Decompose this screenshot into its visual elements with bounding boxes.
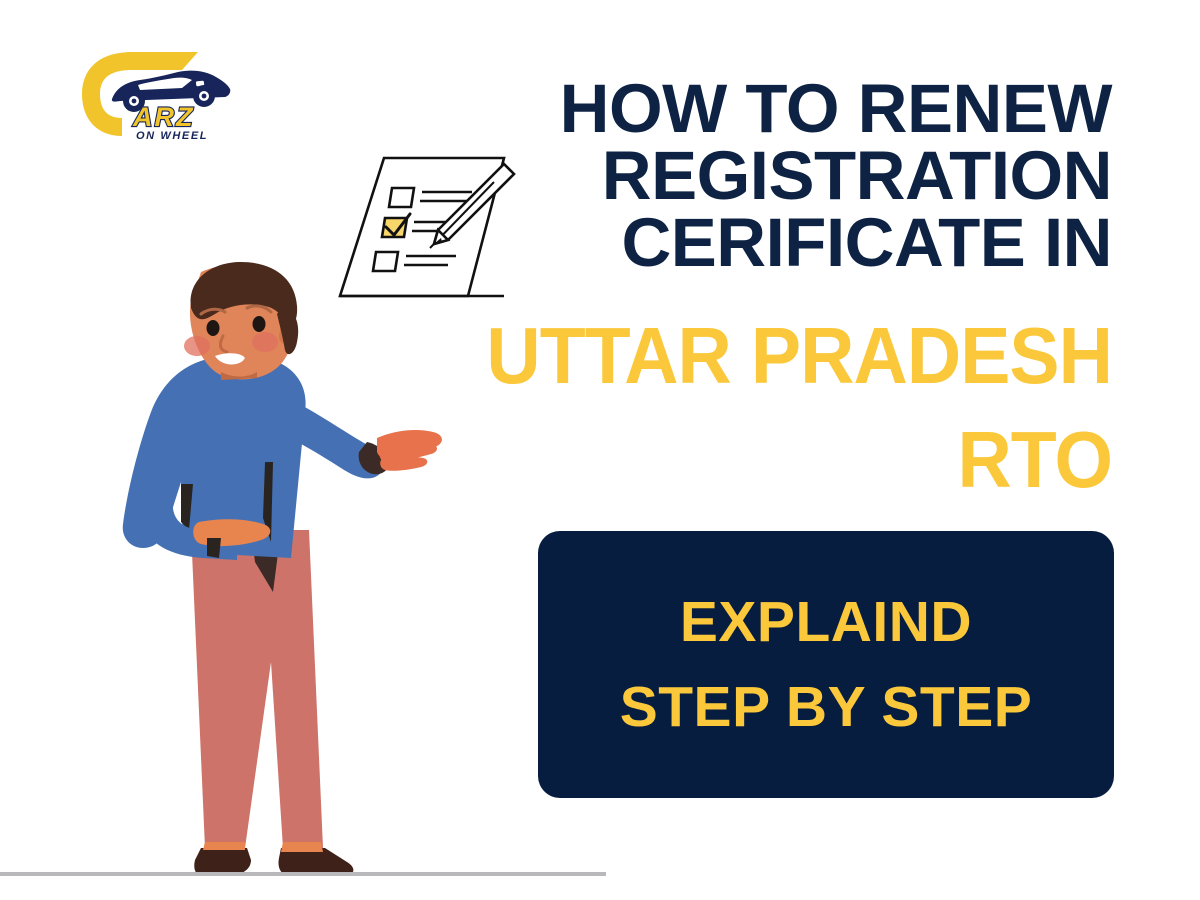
headline-line-1: HOW TO RENEW xyxy=(332,76,1112,143)
eye-right xyxy=(253,316,266,332)
logo-tagline: ON WHEEL xyxy=(136,130,208,142)
callout-line-2: STEP BY STEP xyxy=(620,679,1033,736)
eye-left xyxy=(207,320,220,336)
sock-right xyxy=(281,842,323,852)
trousers xyxy=(191,530,323,848)
headline-line-2: REGISTRATION xyxy=(332,143,1112,210)
headline-line-3: CERIFICATE IN xyxy=(332,210,1112,277)
subject-line-state: UTTAR PRADESH xyxy=(360,316,1112,396)
callout-line-1: EXPLAIND xyxy=(680,594,972,651)
cheek-left xyxy=(184,336,210,356)
subject-block: UTTAR PRADESH RTO xyxy=(312,316,1112,500)
headline-block: HOW TO RENEW REGISTRATION CERIFICATE IN xyxy=(332,76,1112,279)
ground-line xyxy=(0,872,606,876)
logo-artwork: ARZ ON WHEEL xyxy=(70,44,235,144)
poster-canvas: ARZ ON WHEEL xyxy=(0,0,1200,900)
carz-on-wheel-logo[interactable]: ARZ ON WHEEL xyxy=(70,44,235,144)
subject-line-rto: RTO xyxy=(360,420,1112,500)
logo-wordmark: ARZ xyxy=(132,102,195,132)
cheek-right xyxy=(252,332,278,352)
sock-left xyxy=(203,842,245,850)
callout-box: EXPLAIND STEP BY STEP xyxy=(538,531,1114,798)
